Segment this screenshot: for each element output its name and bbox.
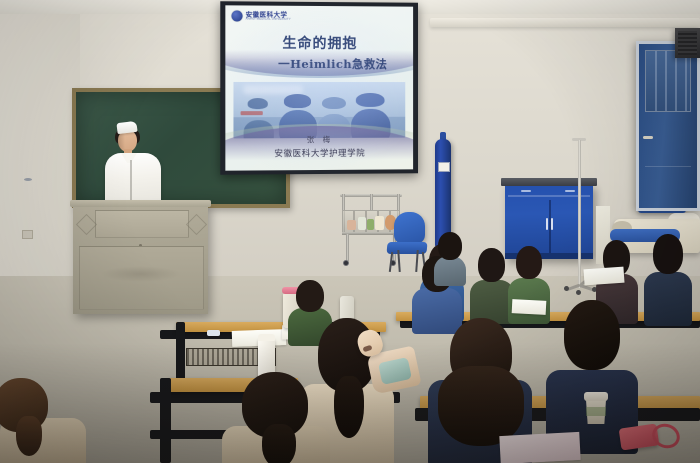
university-logo: 安徽医科大学 ANHUI MEDICAL UNIVERSITY [231, 10, 291, 21]
left-wall-panel [0, 0, 80, 300]
speaker-grill [678, 31, 697, 55]
door-louver-slat-4 [685, 51, 687, 111]
iv-stand-pole [578, 140, 581, 288]
student-near-5 [0, 378, 86, 463]
lectern-carving [101, 266, 181, 282]
door-louver-window [645, 50, 691, 112]
presentation-slide: 安徽医科大学 ANHUI MEDICAL UNIVERSITY 生命的拥抱 一H… [225, 5, 413, 170]
lectern-upper-panel [95, 210, 189, 238]
cabinet-countertop-fitting [24, 178, 32, 181]
student-far-3-head [516, 246, 542, 279]
cabinet-door-knob-right[interactable] [551, 218, 553, 230]
cabinet-countertop [501, 178, 597, 186]
wall-outlet [22, 230, 33, 239]
wall-rail [430, 18, 700, 27]
trolley-item-1 [347, 220, 356, 230]
student-far-5-torso [644, 272, 692, 326]
lectern-top [70, 200, 211, 207]
student-near-6 [434, 232, 466, 282]
classroom-photo: 安徽医科大学 ANHUI MEDICAL UNIVERSITY 生命的拥抱 一H… [0, 0, 700, 463]
student-far-2-head [478, 248, 505, 282]
desk-row-mid-leg-left [176, 322, 185, 380]
wall-speaker [675, 28, 700, 58]
student-near-6-torso [434, 256, 466, 286]
student-far-5 [644, 232, 692, 322]
slide-title: 生命的拥抱 [225, 33, 413, 54]
slide-presenter-name: 张 梅 [225, 134, 413, 146]
student-near-5-ponytail [16, 416, 42, 456]
student-near-6-head [438, 232, 462, 260]
lectern-ornament-right [186, 214, 207, 235]
classroom-door[interactable] [636, 41, 700, 211]
chair-leg-front-left [389, 252, 393, 272]
university-logo-en: ANHUI MEDICAL UNIVERSITY [246, 18, 291, 21]
university-logo-mark [231, 10, 242, 21]
cabinet-door-knob-left[interactable] [546, 218, 548, 230]
lectern [73, 204, 208, 314]
student-mid-1-head [296, 280, 324, 312]
trolley-post-mid [370, 194, 373, 210]
lectern-ornament-left [76, 214, 97, 235]
student-near-4 [222, 372, 330, 463]
door-panel-seam [645, 166, 691, 167]
oxygen-cylinder [435, 139, 451, 247]
handout-near-right [499, 432, 580, 463]
iv-stand-wheel-3 [576, 290, 581, 295]
door-handle[interactable] [643, 136, 653, 139]
trolley-item-4 [375, 216, 384, 230]
student-near-2-hair-long [438, 366, 524, 446]
presenter-placket [130, 160, 132, 200]
iv-stand-wheel-2 [564, 286, 569, 291]
door-louver-slat-2 [665, 51, 667, 111]
trolley-leg-left [346, 234, 349, 261]
trolley-wheel-left [343, 260, 349, 266]
handout-center-right [512, 299, 547, 315]
thermos-bottle-cap[interactable] [258, 334, 275, 341]
iv-stand-base [563, 284, 597, 293]
coffee-cup-sleeve [586, 407, 606, 416]
student-far-5-head [653, 234, 683, 274]
desk-row-near-leg [160, 378, 171, 463]
coffee-cup-lid [584, 392, 608, 401]
cabinet-drawer-handle-left[interactable] [521, 190, 531, 192]
door-louver-slat-1 [655, 51, 657, 111]
handout-far-right [583, 267, 624, 286]
cabinet-drawer-handle-right[interactable] [565, 190, 575, 192]
student-near-3-head [564, 300, 620, 370]
projection-screen: 安徽医科大学 ANHUI MEDICAL UNIVERSITY 生命的拥抱 一H… [220, 1, 418, 174]
cpr-mannequin [352, 330, 422, 398]
student-near-4-ponytail [262, 424, 296, 463]
slide-organization: 安徽医科大学护理学院 [225, 147, 413, 160]
trolley-item-3 [367, 219, 374, 230]
door-louver-slat-3 [675, 51, 677, 111]
oxygen-cylinder-label [438, 162, 450, 172]
slide-subtitle: 一Heimlich急救法 [225, 56, 413, 72]
trolley-item-2 [358, 217, 366, 230]
eraser-item [207, 330, 220, 336]
coffee-cup[interactable] [585, 390, 607, 424]
